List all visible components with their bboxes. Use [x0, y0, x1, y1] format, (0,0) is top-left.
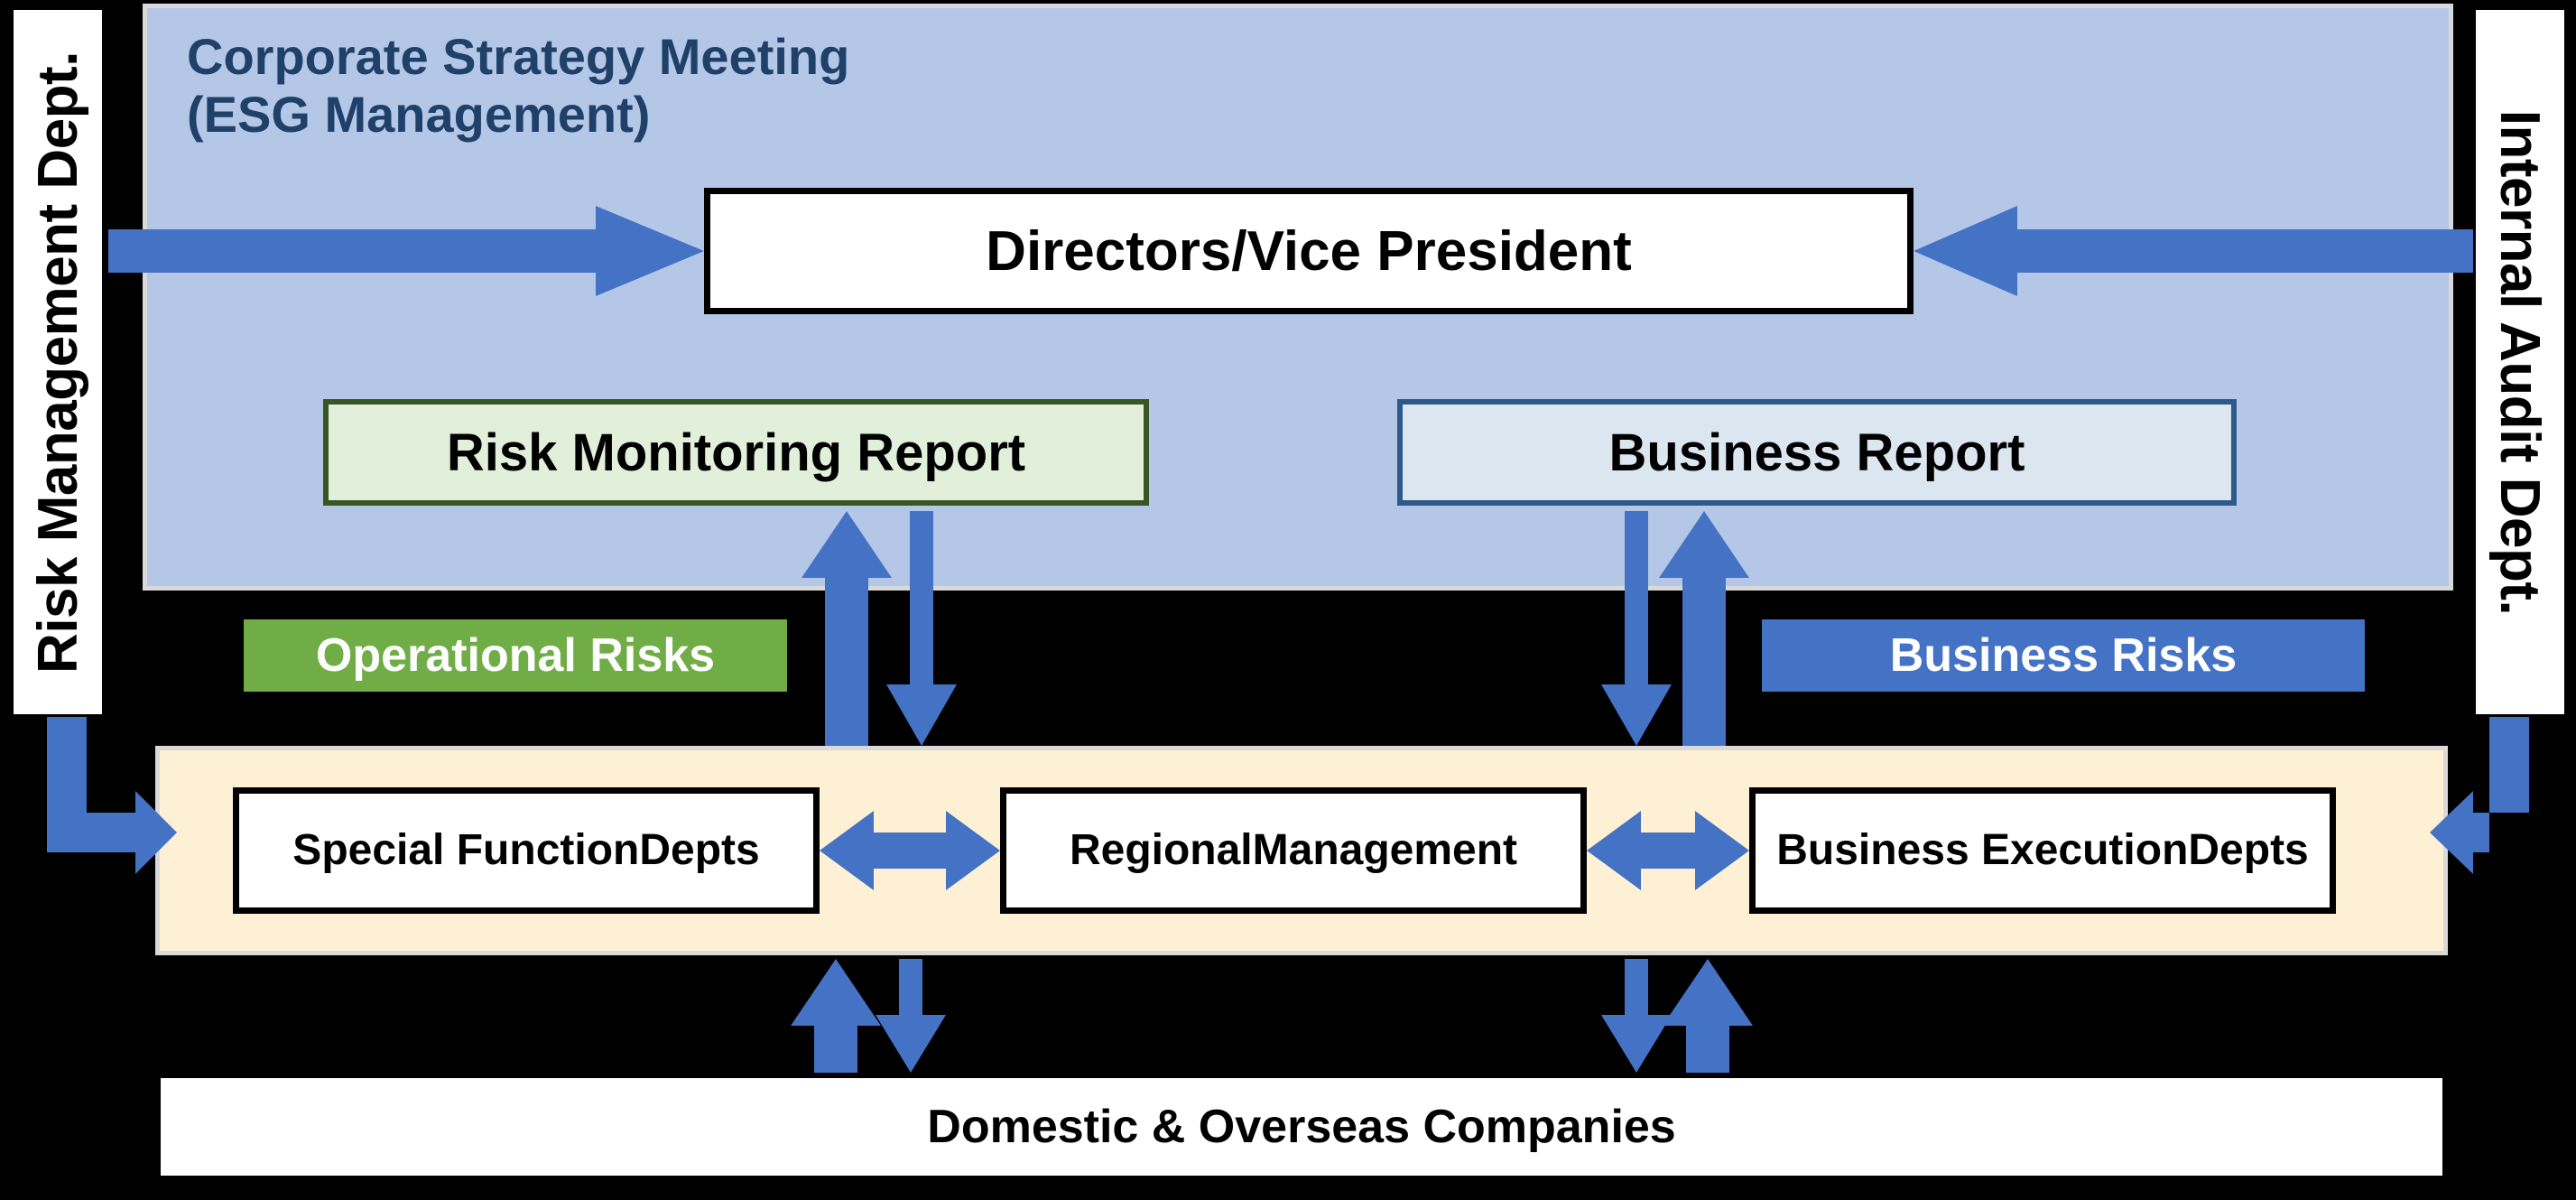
arrow-companies-to-operations-right: [1663, 959, 1753, 1073]
badge-operational-risks: Operational Risks: [244, 619, 787, 692]
side-dept-internal-audit[interactable]: Internal Audit Dept.: [2473, 7, 2567, 717]
box-directors-vice-president[interactable]: Directors/Vice President: [704, 188, 1913, 314]
box-business-report[interactable]: Business Report: [1397, 399, 2237, 506]
arrow-companies-to-operations-left: [791, 959, 881, 1073]
side-dept-risk-management[interactable]: Risk Management Dept.: [11, 7, 105, 717]
box-special-function-depts[interactable]: Special FunctionDepts: [233, 787, 820, 914]
arrow-operations-to-companies-left: [876, 959, 946, 1073]
badge-business-risks: Business Risks: [1762, 619, 2365, 692]
corporate-strategy-title: Corporate Strategy Meeting(ESG Managemen…: [187, 28, 849, 144]
diagram-canvas: Risk Management Dept. Internal Audit Dep…: [0, 0, 2576, 1200]
box-domestic-overseas-companies[interactable]: Domestic & Overseas Companies: [155, 1073, 2448, 1181]
box-regional-management[interactable]: RegionalManagement: [1000, 787, 1587, 914]
box-risk-monitoring-report[interactable]: Risk Monitoring Report: [323, 399, 1149, 506]
arrow-operations-to-companies-right: [1601, 959, 1672, 1073]
box-business-execution-depts[interactable]: Business ExecutionDepts: [1749, 787, 2336, 914]
side-dept-label-internal-audit: Internal Audit Dept.: [2488, 109, 2553, 614]
side-dept-label-risk-management: Risk Management Dept.: [26, 51, 90, 674]
